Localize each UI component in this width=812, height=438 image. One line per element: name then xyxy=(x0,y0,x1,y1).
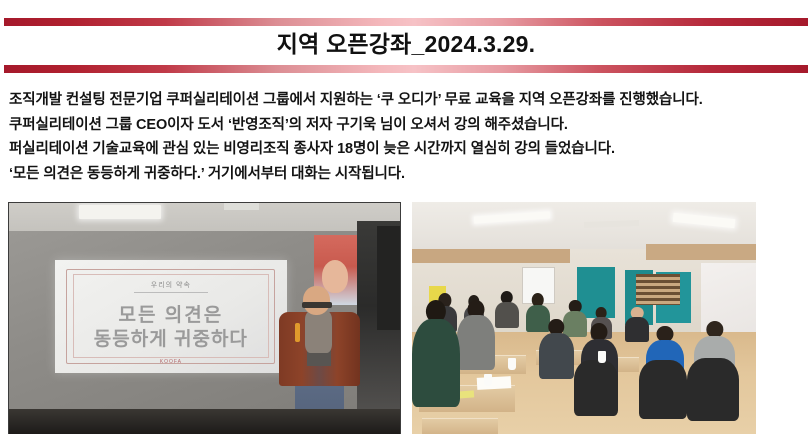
paper-cup-3 xyxy=(598,351,606,363)
chair-3 xyxy=(687,358,739,421)
photo-classroom xyxy=(412,202,756,435)
body-line-1: 조직개발 컨설팅 전문기업 쿠퍼실리테이션 그룹에서 지원하는 ‘쿠 오디가’ … xyxy=(9,88,805,113)
participant-back-3 xyxy=(495,291,519,328)
body-line-3: 퍼실리테이션 기술교육에 관심 있는 비영리조직 종사자 18명이 늦은 시간까… xyxy=(9,137,805,162)
participant-body xyxy=(539,333,573,379)
slide-kicker-rule xyxy=(134,292,208,293)
chair-2 xyxy=(639,360,687,418)
table-5 xyxy=(422,418,498,435)
body-line-2: 쿠퍼실리테이션 그룹 CEO이자 도서 ‘반영조직’의 저자 구기욱 님이 오셔… xyxy=(9,113,805,138)
presentation-slide: 우리의 약속 모든 의견은 동등하게 귀중하다 KOOFA xyxy=(55,260,287,374)
participant-front-2 xyxy=(457,300,495,370)
page-title: 지역 오픈강좌_2024.3.29. xyxy=(0,27,812,61)
participant-body xyxy=(457,315,495,370)
divider-rule-top xyxy=(4,18,808,26)
document-header: 지역 오픈강좌_2024.3.29. xyxy=(0,0,812,84)
photo-lecture-projector: 우리의 약속 모든 의견은 동등하게 귀중하다 KOOFA xyxy=(8,202,401,435)
photo-row: 우리의 약속 모든 의견은 동등하게 귀중하다 KOOFA xyxy=(0,202,812,438)
ceiling-light-secondary xyxy=(224,203,259,210)
floor-shadow xyxy=(9,409,400,434)
wood-wall-band-right xyxy=(646,244,756,260)
bottom-padding xyxy=(0,434,812,438)
slide-headline-line-2: 동등하게 귀중하다 xyxy=(55,324,287,351)
ceiling xyxy=(9,203,400,233)
slide-logo-text: KOOFA xyxy=(55,359,287,365)
chair-1 xyxy=(574,360,619,416)
handout-paper xyxy=(477,376,512,389)
wood-wall-band-left xyxy=(412,249,570,263)
photo-classroom-content xyxy=(412,202,756,435)
participant-mid-4 xyxy=(539,319,573,380)
photo-lecture-projector-content: 우리의 약속 모든 의견은 동등하게 귀중하다 KOOFA xyxy=(9,203,400,434)
slide-kicker-text: 우리의 약속 xyxy=(55,280,287,290)
window-blind xyxy=(636,274,681,304)
right-wall-dark-panel xyxy=(377,226,400,330)
paper-cup-1 xyxy=(484,374,492,386)
participant-body xyxy=(412,319,460,407)
participant-body xyxy=(495,302,519,328)
speaker-scarf xyxy=(305,311,332,354)
paper-cup-2 xyxy=(508,358,516,370)
microphone xyxy=(295,323,300,342)
body-text-block: 조직개발 컨설팅 전문기업 쿠퍼실리테이션 그룹에서 지원하는 ‘쿠 오디가’ … xyxy=(9,88,805,186)
divider-rule-bottom xyxy=(4,65,808,73)
speaker-glasses xyxy=(302,302,332,308)
ceiling-light xyxy=(79,205,161,219)
speaker-head xyxy=(303,286,330,315)
body-line-4: ‘모든 의견은 동등하게 귀중하다.’ 거기에서부터 대화는 시작됩니다. xyxy=(9,162,805,187)
participant-front-1 xyxy=(412,300,460,407)
